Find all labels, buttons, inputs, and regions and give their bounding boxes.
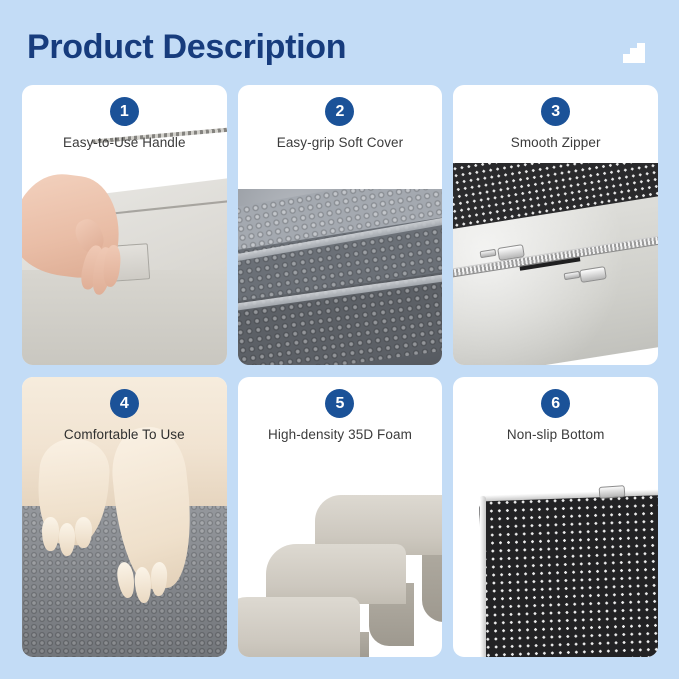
feature-label-3: Smooth Zipper: [453, 135, 658, 150]
stairs-icon: [621, 42, 647, 64]
zipper-slider-bottom: [599, 486, 626, 500]
feature-card-3[interactable]: 3 Smooth Zipper: [453, 85, 658, 365]
feature-card-4[interactable]: 4 Comfortable To Use: [22, 377, 227, 657]
feature-image-5: [238, 481, 443, 657]
feature-card-grid: 1 Easy-to-Use Handle 2 Easy-grip Soft Co…: [22, 85, 658, 657]
feature-card-5-head: 5 High-density 35D Foam: [238, 377, 443, 442]
feature-image-4: [22, 377, 227, 657]
feature-card-6-head: 6 Non-slip Bottom: [453, 377, 658, 442]
step-badge-2: 2: [325, 97, 354, 126]
feature-card-6[interactable]: 6 Non-slip Bottom: [453, 377, 658, 657]
feature-card-2-head: 2 Easy-grip Soft Cover: [238, 85, 443, 150]
step-badge-5: 5: [325, 389, 354, 418]
feature-card-2[interactable]: 2 Easy-grip Soft Cover: [238, 85, 443, 365]
feature-label-5: High-density 35D Foam: [238, 427, 443, 442]
step-badge-3: 3: [541, 97, 570, 126]
feature-image-3: [453, 163, 658, 365]
feature-image-6: [453, 461, 658, 657]
feature-image-2: [238, 189, 443, 365]
page-title: Product Description: [27, 26, 346, 68]
feature-label-2: Easy-grip Soft Cover: [238, 135, 443, 150]
feature-card-5[interactable]: 5 High-density 35D Foam: [238, 377, 443, 657]
feature-card-3-head: 3 Smooth Zipper: [453, 85, 658, 150]
header: Product Description: [0, 0, 679, 84]
feature-image-1: [22, 85, 227, 365]
feature-label-6: Non-slip Bottom: [453, 427, 658, 442]
step-badge-6: 6: [541, 389, 570, 418]
feature-card-1[interactable]: 1 Easy-to-Use Handle: [22, 85, 227, 365]
